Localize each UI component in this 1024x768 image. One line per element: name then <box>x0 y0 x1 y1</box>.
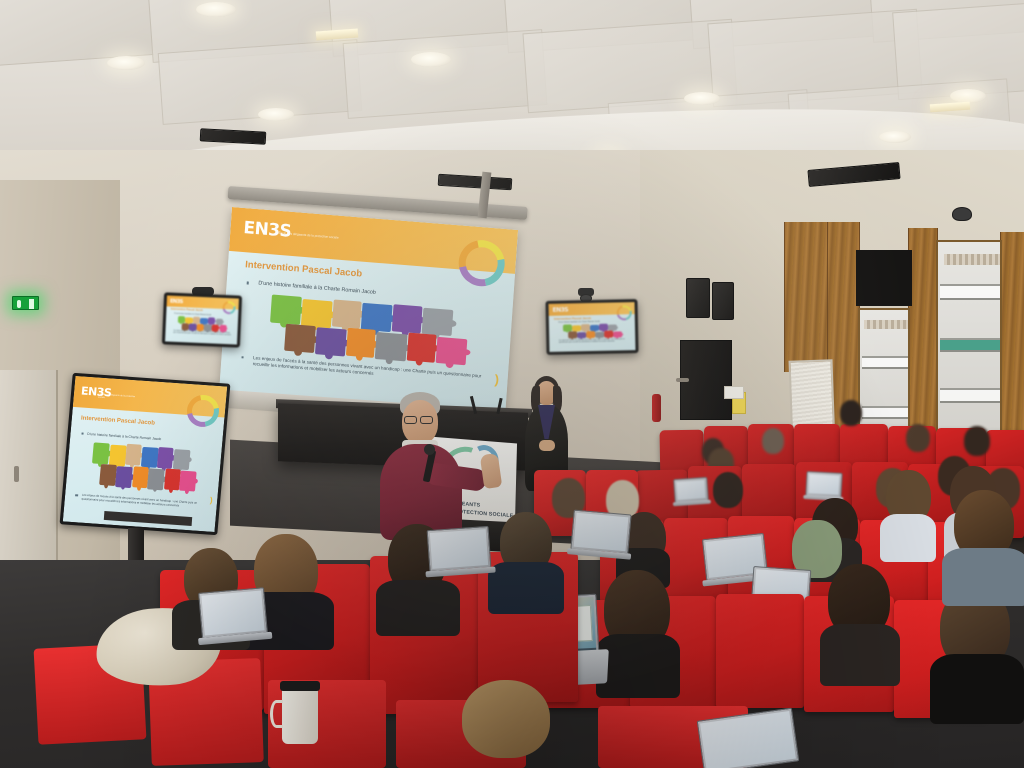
audience-laptop[interactable] <box>805 471 842 498</box>
ceiling-downlight <box>258 108 294 121</box>
emergency-exit-sign <box>12 296 39 310</box>
audience-member <box>760 428 786 458</box>
door-handle[interactable] <box>14 466 19 482</box>
slide-bullet-2: Les enjeux de l'accès à la santé des per… <box>173 331 233 338</box>
window-blind <box>856 250 912 306</box>
audience-member <box>838 400 864 432</box>
slide-title: Intervention Pascal Jacob <box>245 260 363 280</box>
audience-member <box>946 490 1024 594</box>
upper-left-wall-monitor: EN3S Intervention Pascal Jacob D'une his… <box>162 292 242 347</box>
audience-laptop[interactable] <box>198 587 268 639</box>
door-handle[interactable] <box>676 378 689 382</box>
audience-member <box>904 424 932 458</box>
puzzle-diagram <box>268 292 472 369</box>
ceiling-camera <box>950 205 974 221</box>
speaker-glasses <box>404 416 417 424</box>
wall-notice-white <box>724 386 744 399</box>
wood-wall-panel <box>784 222 828 372</box>
slide-bullet-2-text: Les enjeux de l'accès à la santé des per… <box>81 492 197 507</box>
left-door[interactable] <box>0 370 58 570</box>
left-wall-monitor: EN3S L'École des dirigeants de la protec… <box>60 373 231 535</box>
audience-member <box>596 570 680 690</box>
audience-laptop[interactable] <box>570 510 631 555</box>
audience-laptop[interactable] <box>673 477 709 503</box>
ceiling-downlight <box>684 92 720 105</box>
seat <box>716 594 804 708</box>
slide-bullet-1-text: D'une histoire familiale à la Charte Rom… <box>87 432 161 441</box>
audience-member <box>492 512 560 608</box>
moderator-hands <box>539 440 555 451</box>
slide-bullet-2: Les enjeux de l'accès à la santé des per… <box>81 493 208 509</box>
main-projection-screen: EN3S L'École des dirigeants de la protec… <box>219 207 518 420</box>
puzzle-diagram <box>90 440 200 494</box>
audience-member <box>452 680 562 768</box>
slide-title: Intervention Pascal Jacob <box>171 308 203 312</box>
audience-member <box>710 472 746 516</box>
wall-speaker <box>686 278 710 318</box>
slide-smile-mark: ) <box>210 495 213 504</box>
slide-bullet-2: Les enjeux de l'accès à la santé des per… <box>559 339 630 345</box>
audience-member <box>880 470 936 550</box>
wall-speaker <box>712 282 734 320</box>
slide-smile-mark: ) <box>494 371 499 386</box>
handheld-microphone-head <box>424 444 435 455</box>
fire-extinguisher <box>652 394 661 422</box>
travel-mug[interactable] <box>282 688 318 744</box>
audience-member <box>820 564 900 680</box>
mug-lid <box>280 681 320 691</box>
ceiling-downlight <box>411 52 451 67</box>
en3s-logo: EN3S <box>552 306 568 313</box>
slide-content: EN3S L'École des dirigeants de la protec… <box>219 207 518 420</box>
ceiling-downlight <box>879 131 911 143</box>
mug-handle <box>270 700 283 728</box>
en3s-logo: EN3S <box>170 298 183 305</box>
right-wall-monitor: EN3S Intervention Pascal Jacob D'une his… <box>545 299 638 355</box>
standing-speaker <box>372 392 468 542</box>
auditorium-photo: EN3S L'École des dirigeants de la protec… <box>0 0 1024 768</box>
ceiling-downlight <box>196 2 236 17</box>
ceiling-downlight <box>107 56 145 70</box>
speaker-glasses <box>420 416 433 424</box>
slide-title: Intervention Pascal Jacob <box>554 316 591 321</box>
audience-laptop[interactable] <box>427 526 492 572</box>
slide-title: Intervention Pascal Jacob <box>81 416 155 427</box>
